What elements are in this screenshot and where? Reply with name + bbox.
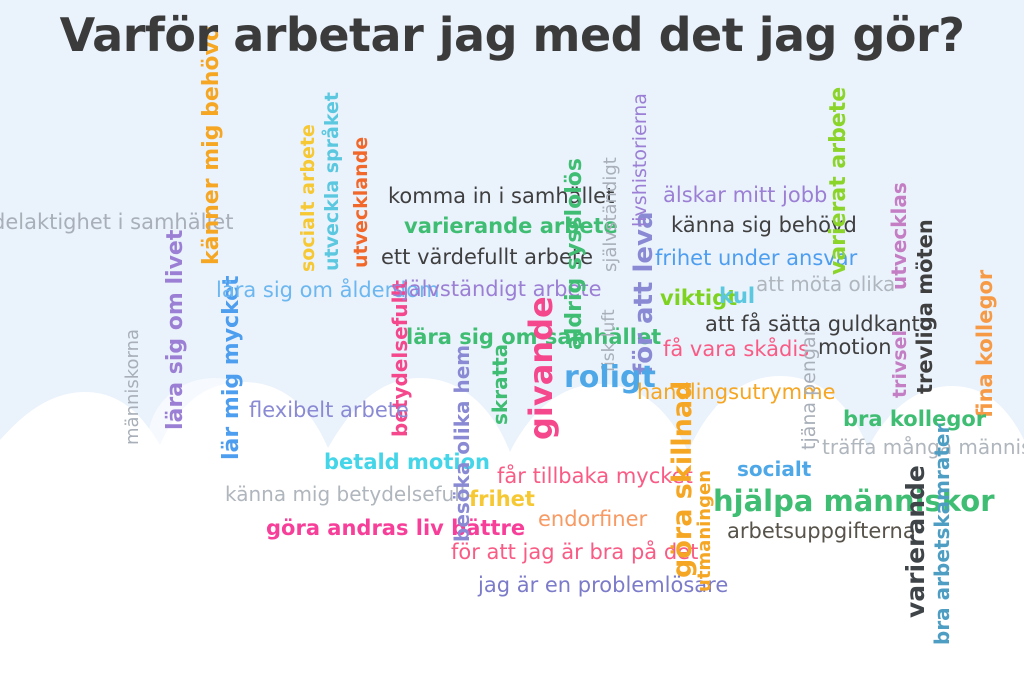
wordcloud-word: jag är en problemlösare	[478, 575, 728, 596]
wordcloud-word: utmaningen	[696, 470, 714, 592]
wordcloud-word: varierande	[903, 465, 928, 618]
wordcloud-word: trivsel	[891, 330, 910, 398]
wordcloud-word: träffa många människor	[822, 437, 1024, 457]
wordcloud-word: älskar mitt jobb	[663, 185, 827, 206]
wordcloud-word: lära sig om livet	[165, 230, 187, 430]
wordcloud-word: motion	[818, 337, 892, 358]
wordcloud-word: för att jag är bra på det	[451, 542, 698, 563]
wordcloud-word: får tillbaka mycket	[497, 466, 693, 487]
wordcloud-word: frihet	[469, 489, 535, 510]
wordcloud-word: skratta	[490, 344, 510, 425]
wordcloud-word: utvecklande	[352, 137, 371, 268]
wordcloud-word: socialt arbete	[299, 124, 318, 272]
wordcloud-word: känna mig betydelsefull	[225, 484, 465, 504]
wordcloud-word: kul	[719, 286, 755, 307]
wordcloud-word: självständigt	[602, 157, 620, 272]
wordcloud-word: besöka olika hem	[452, 345, 472, 542]
wordcloud-word: endorfiner	[538, 509, 647, 530]
wordcloud-word: varierat arbete	[828, 87, 850, 275]
wordcloud-word: tjäna pengar	[800, 329, 819, 450]
wordcloud-word: få vara skådis	[663, 339, 809, 360]
wordcloud-word: trevliga möten	[915, 219, 936, 394]
wordcloud-word: bra arbetskamrater	[932, 424, 952, 645]
wordcloud-word: lär mig mycket	[221, 275, 243, 460]
wordcloud-word: utveckla språket	[323, 92, 342, 271]
wordcloud-word: bra kollegor	[843, 409, 986, 430]
wordcloud-word: göra andras liv bättre	[266, 518, 525, 539]
wordcloud-word: utvecklas	[889, 182, 909, 290]
wordcloud-word: för att leva	[631, 211, 657, 375]
wordcloud-word: fina kollegor	[975, 270, 996, 418]
wordcloud-word: människorna	[124, 329, 142, 445]
wordcloud-word: att möta olika	[756, 274, 895, 294]
wordcloud-word: givande	[525, 296, 557, 440]
wordcloud-canvas: Varför arbetar jag med det jag gör? dela…	[0, 0, 1024, 687]
wordcloud-word: socialt	[737, 459, 811, 479]
page-title: Varför arbetar jag med det jag gör?	[0, 8, 1024, 62]
wordcloud-word: flexibelt arbete	[249, 400, 409, 421]
wordcloud-word: göra skillnad	[669, 381, 696, 578]
wordcloud-word: aldrig sysslolös	[564, 158, 586, 350]
wordcloud-word: arbetsuppgifterna	[727, 521, 916, 542]
wordcloud-word: livshistorierna	[631, 93, 650, 227]
